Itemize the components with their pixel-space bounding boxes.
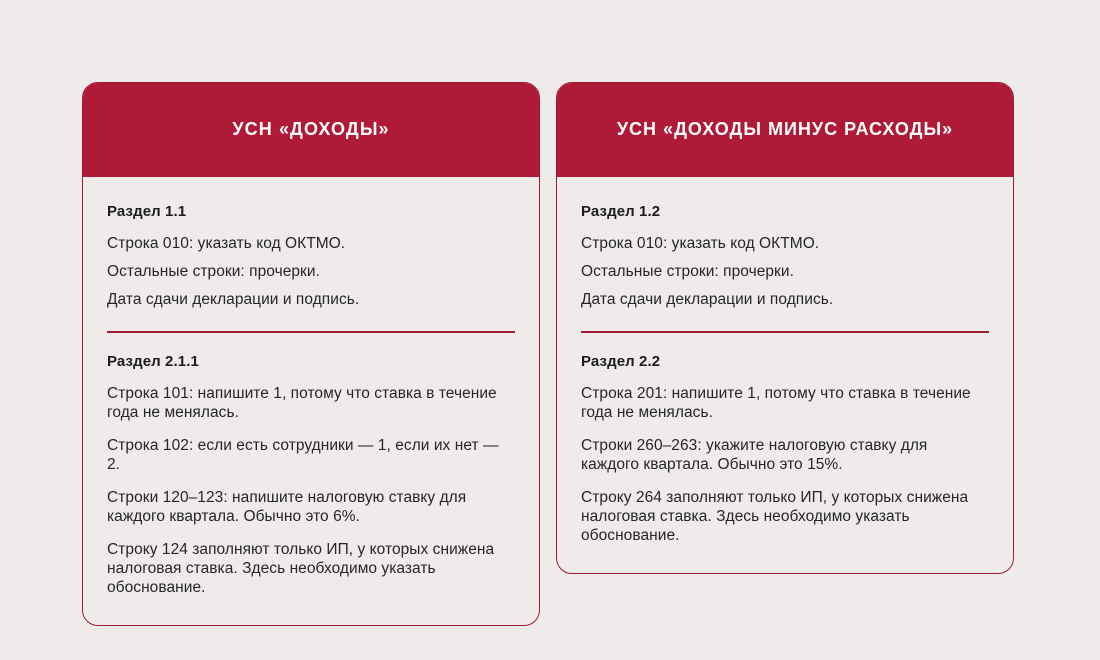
section-paragraph: Строку 124 заполняют только ИП, у которы…: [107, 540, 515, 597]
section-paragraph: Строку 264 заполняют только ИП, у которы…: [581, 488, 989, 545]
section-paragraph: Остальные строки: прочерки.: [581, 262, 989, 281]
card-body: Раздел 1.1 Строка 010: указать код ОКТМО…: [83, 177, 539, 625]
card-usn-dohody: УСН «ДОХОДЫ» Раздел 1.1 Строка 010: указ…: [82, 82, 540, 626]
section-razdel-1-2: Раздел 1.2 Строка 010: указать код ОКТМО…: [581, 203, 989, 309]
card-title: УСН «ДОХОДЫ МИНУС РАСХОДЫ»: [617, 118, 953, 141]
section-heading: Раздел 1.2: [581, 203, 989, 220]
section-divider: [107, 331, 515, 333]
card-header: УСН «ДОХОДЫ МИНУС РАСХОДЫ»: [556, 82, 1014, 177]
section-heading: Раздел 2.2: [581, 353, 989, 370]
card-usn-dohody-minus-rashody: УСН «ДОХОДЫ МИНУС РАСХОДЫ» Раздел 1.2 Ст…: [556, 82, 1014, 574]
section-paragraph: Строка 010: указать код ОКТМО.: [107, 234, 515, 253]
card-body: Раздел 1.2 Строка 010: указать код ОКТМО…: [557, 177, 1013, 573]
section-razdel-2-1-1: Раздел 2.1.1 Строка 101: напишите 1, пот…: [107, 353, 515, 597]
section-paragraph: Дата сдачи декларации и подпись.: [581, 290, 989, 309]
section-paragraph: Строки 260–263: укажите налоговую ставку…: [581, 436, 989, 474]
section-heading: Раздел 1.1: [107, 203, 515, 220]
infographic-page: УСН «ДОХОДЫ» Раздел 1.1 Строка 010: указ…: [0, 0, 1100, 660]
section-paragraph: Строка 101: напишите 1, потому что ставк…: [107, 384, 515, 422]
section-paragraph: Строка 201: напишите 1, потому что ставк…: [581, 384, 989, 422]
section-paragraph: Строка 102: если есть сотрудники — 1, ес…: [107, 436, 515, 474]
section-heading: Раздел 2.1.1: [107, 353, 515, 370]
card-title: УСН «ДОХОДЫ»: [232, 118, 389, 141]
section-paragraph: Остальные строки: прочерки.: [107, 262, 515, 281]
card-container: УСН «ДОХОДЫ» Раздел 1.1 Строка 010: указ…: [82, 82, 1019, 626]
section-paragraph: Строки 120–123: напишите налоговую ставк…: [107, 488, 515, 526]
section-paragraph: Строка 010: указать код ОКТМО.: [581, 234, 989, 253]
section-divider: [581, 331, 989, 333]
section-razdel-1-1: Раздел 1.1 Строка 010: указать код ОКТМО…: [107, 203, 515, 309]
section-razdel-2-2: Раздел 2.2 Строка 201: напишите 1, потом…: [581, 353, 989, 545]
section-paragraph: Дата сдачи декларации и подпись.: [107, 290, 515, 309]
card-header: УСН «ДОХОДЫ»: [82, 82, 540, 177]
